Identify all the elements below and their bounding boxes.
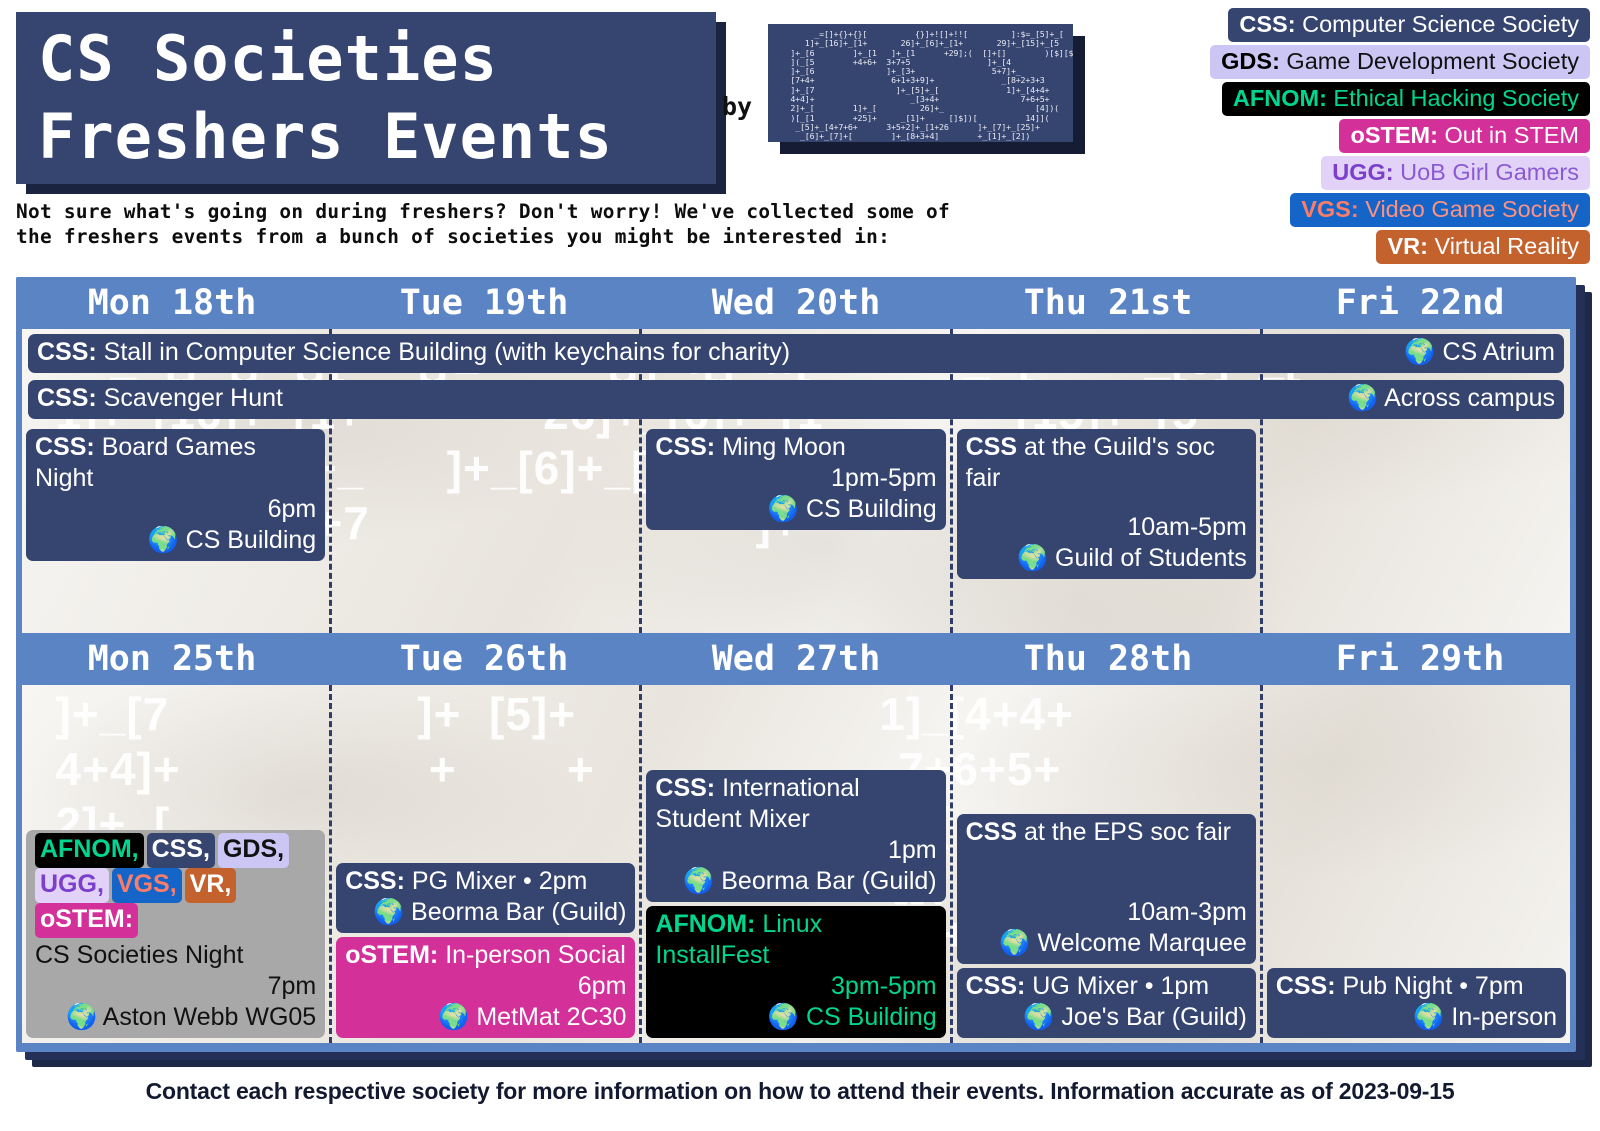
event-card[interactable]: CSS: International Student Mixer1pm🌍 Beo… [646, 770, 945, 902]
legend-abbr: AFNOM: [1233, 85, 1327, 111]
event-title: CSS: Ming Moon [655, 432, 936, 463]
legend-item-afnom: AFNOM: Ethical Hacking Society [1222, 82, 1590, 116]
day-column-wed-27th: CSS: International Student Mixer1pm🌍 Beo… [639, 685, 949, 1043]
globe-icon: 🌍 [999, 929, 1030, 957]
poster-root: CS Societies Freshers Events by _=[]+{}+… [0, 0, 1600, 1131]
by-label: by [722, 92, 752, 121]
legend-name: Computer Science Society [1296, 11, 1579, 37]
event-location: 🌍 Guild of Students [966, 543, 1247, 574]
society-tag-list: AFNOM,CSS,GDS,UGG,VGS,VR,oSTEM: [35, 833, 316, 938]
week2-columns: AFNOM,CSS,GDS,UGG,VGS,VR,oSTEM:CS Societ… [22, 685, 1570, 1043]
society-tag-afnom: AFNOM, [35, 833, 144, 868]
day-header-thu-21st: Thu 21st [952, 277, 1264, 329]
globe-icon: 🌍 [1017, 544, 1048, 572]
css-ascii-logo: _=[]+{}+{}[ {}]+![]+!![ ]:$=_[5]+_[ 1]+_… [768, 24, 1073, 142]
globe-icon: 🌍 [373, 898, 404, 926]
society-tag-vr: VR, [185, 868, 237, 903]
legend-item-css: CSS: Computer Science Society [1228, 8, 1590, 42]
legend-abbr: CSS: [1239, 11, 1295, 37]
legend-item-vgs: VGS: Video Game Society [1290, 193, 1590, 227]
event-stack: AFNOM,CSS,GDS,UGG,VGS,VR,oSTEM:CS Societ… [26, 830, 325, 1038]
legend-abbr: VR: [1387, 233, 1427, 259]
event-time: 1pm-5pm [655, 463, 936, 494]
day-column-wed-20th: CSS: Ming Moon1pm-5pm🌍 CS Building [639, 329, 949, 633]
event-time: 6pm [345, 971, 626, 1002]
event-stack: CSS: International Student Mixer1pm🌍 Beo… [646, 770, 945, 1038]
event-society: CSS: [37, 338, 97, 366]
society-legend: CSS: Computer Science SocietyGDS: Game D… [1210, 8, 1590, 264]
event-title: CSS: International Student Mixer [655, 773, 936, 835]
society-tag-ugg: UGG, [35, 868, 109, 903]
event-time: 3pm-5pm [655, 971, 936, 1002]
event-card[interactable]: CSS at the Guild's soc fair10am-5pm🌍 Gui… [957, 429, 1256, 579]
intro-text: Not sure what's going on during freshers… [16, 200, 966, 249]
legend-name: Video Game Society [1359, 196, 1579, 222]
event-card[interactable]: CSS: PG Mixer • 2pm🌍 Beorma Bar (Guild) [336, 863, 635, 933]
week1-day-headers: Mon 18thTue 19thWed 20thThu 21stFri 22nd [16, 277, 1576, 329]
event-location: 🌍 Beorma Bar (Guild) [655, 866, 936, 897]
day-column-fri-22nd [1260, 329, 1570, 633]
society-tag-ostem: oSTEM: [35, 903, 138, 938]
day-column-mon-25th: AFNOM,CSS,GDS,UGG,VGS,VR,oSTEM:CS Societ… [22, 685, 329, 1043]
legend-abbr: VGS: [1301, 196, 1358, 222]
event-title: CSS: Stall in Computer Science Building … [37, 337, 790, 368]
event-title: AFNOM: Linux InstallFest [655, 909, 936, 971]
footer-note: Contact each respective society for more… [0, 1078, 1600, 1105]
event-row-content: CSS: Stall in Computer Science Building … [37, 337, 1555, 368]
legend-item-ostem: oSTEM: Out in STEM [1339, 119, 1590, 153]
event-stack: CSS at the EPS soc fair10am-3pm🌍 Welcome… [957, 814, 1256, 1038]
event-card[interactable]: AFNOM: Linux InstallFest3pm-5pm🌍 CS Buil… [646, 906, 945, 1038]
society-tag-gds: GDS, [218, 833, 289, 868]
globe-icon: 🌍 [1023, 1003, 1054, 1031]
day-column-thu-28th: CSS at the EPS soc fair10am-3pm🌍 Welcome… [950, 685, 1260, 1043]
legend-name: Out in STEM [1438, 122, 1579, 148]
event-society: CSS: [655, 433, 715, 461]
event-title: CSS: Scavenger Hunt [37, 383, 283, 414]
spanning-event-row[interactable]: CSS: Stall in Computer Science Building … [28, 334, 1564, 373]
event-time: 10am-3pm [966, 897, 1247, 928]
event-stack: CSS: PG Mixer • 2pm🌍 Beorma Bar (Guild)o… [336, 863, 635, 1038]
title-line-2: Freshers Events [38, 98, 716, 176]
event-society: CSS: [35, 433, 95, 461]
day-header-wed-20th: Wed 20th [640, 277, 952, 329]
calendar: Mon 18thTue 19thWed 20thThu 21stFri 22nd… [16, 277, 1576, 1052]
event-stack: CSS at the Guild's soc fair10am-5pm🌍 Gui… [957, 429, 1256, 628]
globe-icon: 🌍 [1413, 1003, 1444, 1031]
event-card[interactable]: CSS: Pub Night • 7pm🌍 In-person [1267, 968, 1566, 1038]
event-stack: CSS: Ming Moon1pm-5pm🌍 CS Building [646, 429, 945, 628]
event-location: 🌍 CS Building [655, 1002, 936, 1033]
week1-columns: CSS: Board Games Night6pm🌍 CS BuildingCS… [22, 329, 1570, 633]
event-row-content: CSS: Scavenger Hunt🌍 Across campus [37, 383, 1555, 414]
event-card[interactable]: CSS at the EPS soc fair10am-3pm🌍 Welcome… [957, 814, 1256, 964]
event-society: CSS [966, 433, 1017, 461]
globe-icon: 🌍 [683, 867, 714, 895]
event-location: 🌍 Joe's Bar (Guild) [966, 1002, 1247, 1033]
globe-icon: 🌍 [147, 526, 178, 554]
ascii-logo-art: _=[]+{}+{}[ {}]+![]+!![ ]:$=_[5]+_[ 1]+_… [776, 30, 1065, 142]
legend-item-ugg: UGG: UoB Girl Gamers [1321, 156, 1590, 190]
event-stack: CSS: Board Games Night6pm🌍 CS Building [26, 429, 325, 628]
event-title: CSS: Pub Night • 7pm [1276, 971, 1557, 1002]
spacer [966, 848, 1247, 897]
event-card[interactable]: oSTEM: In-person Social6pm🌍 MetMat 2C30 [336, 937, 635, 1038]
day-column-mon-18th: CSS: Board Games Night6pm🌍 CS Building [22, 329, 329, 633]
event-location: 🌍 MetMat 2C30 [345, 1002, 626, 1033]
event-card[interactable]: CSS: UG Mixer • 1pm🌍 Joe's Bar (Guild) [957, 968, 1256, 1038]
event-location: 🌍 CS Atrium [1404, 337, 1555, 368]
event-society: CSS: [37, 384, 97, 412]
day-header-mon-25th: Mon 25th [16, 633, 328, 685]
event-title: oSTEM: In-person Social [345, 940, 626, 971]
legend-abbr: oSTEM: [1350, 122, 1437, 148]
week2-day-headers: Mon 25thTue 26thWed 27thThu 28thFri 29th [16, 633, 1576, 685]
day-column-fri-29th: CSS: Pub Night • 7pm🌍 In-person [1260, 685, 1570, 1043]
legend-name: UoB Girl Gamers [1394, 159, 1579, 185]
day-header-tue-19th: Tue 19th [328, 277, 640, 329]
event-card[interactable]: CSS: Board Games Night6pm🌍 CS Building [26, 429, 325, 561]
event-stack: CSS: Pub Night • 7pm🌍 In-person [1267, 968, 1566, 1038]
poster-title: CS Societies Freshers Events [16, 12, 716, 184]
event-time: 10am-5pm [966, 512, 1247, 543]
globe-icon: 🌍 [1404, 338, 1435, 366]
event-society: oSTEM: [345, 941, 438, 969]
globe-icon: 🌍 [768, 495, 799, 523]
event-society: AFNOM: [655, 910, 755, 938]
event-stack [336, 429, 635, 628]
event-title: CSS: PG Mixer • 2pm [345, 866, 626, 897]
event-time: 7pm [35, 971, 316, 1002]
week2-body: ]+_[7 ]+ [5]+ 1]_[4+4+ 4+4]+ + + 7+6+5+ … [22, 685, 1570, 1043]
society-tag-vgs: VGS, [112, 868, 182, 903]
event-society: CSS [966, 818, 1017, 846]
globe-icon: 🌍 [66, 1003, 97, 1031]
event-title: CSS: UG Mixer • 1pm [966, 971, 1247, 1002]
day-column-thu-21st: CSS at the Guild's soc fair10am-5pm🌍 Gui… [950, 329, 1260, 633]
event-location: 🌍 Beorma Bar (Guild) [345, 897, 626, 928]
event-time: 1pm [655, 835, 936, 866]
event-title: CS Societies Night [35, 940, 316, 971]
day-header-wed-27th: Wed 27th [640, 633, 952, 685]
event-location: 🌍 Welcome Marquee [966, 928, 1247, 959]
day-header-mon-18th: Mon 18th [16, 277, 328, 329]
event-society: CSS: [655, 774, 715, 802]
legend-name: Game Development Society [1280, 48, 1579, 74]
globe-icon: 🌍 [438, 1003, 469, 1031]
event-card[interactable]: CSS: Ming Moon1pm-5pm🌍 CS Building [646, 429, 945, 530]
event-location: 🌍 Aston Webb WG05 [35, 1002, 316, 1033]
title-line-1: CS Societies [38, 20, 716, 98]
day-column-tue-19th [329, 329, 639, 633]
event-society: CSS: [345, 867, 405, 895]
day-header-fri-22nd: Fri 22nd [1264, 277, 1576, 329]
legend-name: Virtual Reality [1428, 233, 1579, 259]
day-column-tue-26th: CSS: PG Mixer • 2pm🌍 Beorma Bar (Guild)o… [329, 685, 639, 1043]
legend-name: Ethical Hacking Society [1327, 85, 1579, 111]
event-location: 🌍 Across campus [1347, 383, 1555, 414]
spacer [966, 494, 1247, 512]
event-card[interactable]: CSS: Stall in Computer Science Building … [28, 334, 1564, 373]
society-tag-css: CSS, [147, 833, 215, 868]
spanning-event-row[interactable]: CSS: Scavenger Hunt🌍 Across campus [28, 380, 1564, 419]
legend-item-gds: GDS: Game Development Society [1210, 45, 1590, 79]
legend-abbr: GDS: [1221, 48, 1280, 74]
day-header-fri-29th: Fri 29th [1264, 633, 1576, 685]
event-card[interactable]: CSS: Scavenger Hunt🌍 Across campus [28, 380, 1564, 419]
event-location: 🌍 In-person [1276, 1002, 1557, 1033]
event-title: CSS at the Guild's soc fair [966, 432, 1247, 494]
event-card[interactable]: AFNOM,CSS,GDS,UGG,VGS,VR,oSTEM:CS Societ… [26, 830, 325, 1038]
legend-item-vr: VR: Virtual Reality [1376, 230, 1590, 264]
day-header-tue-26th: Tue 26th [328, 633, 640, 685]
poster-header: CS Societies Freshers Events by _=[]+{}+… [0, 0, 1600, 196]
event-location: 🌍 CS Building [35, 525, 316, 556]
event-society: CSS: [966, 972, 1026, 1000]
globe-icon: 🌍 [768, 1003, 799, 1031]
legend-abbr: UGG: [1332, 159, 1393, 185]
event-location: 🌍 CS Building [655, 494, 936, 525]
globe-icon: 🌍 [1347, 384, 1378, 412]
event-title: CSS at the EPS soc fair [966, 817, 1247, 848]
event-time: 6pm [35, 494, 316, 525]
day-header-thu-28th: Thu 28th [952, 633, 1264, 685]
week1-body: _=[]+{}+{}[ {}L {}]+![]+!![ _=[ _[5]+_[ … [22, 329, 1570, 633]
event-stack [1267, 429, 1566, 628]
event-title: CSS: Board Games Night [35, 432, 316, 494]
event-society: CSS: [1276, 972, 1336, 1000]
